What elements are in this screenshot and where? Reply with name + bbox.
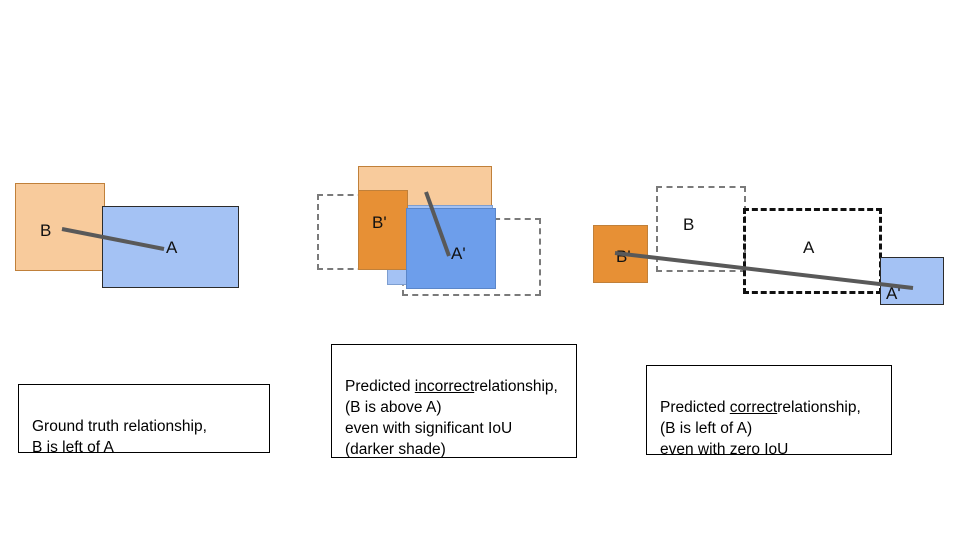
caption-predicted-correct-lead: Predicted <box>660 399 730 416</box>
caption-predicted-correct: Predicted correctrelationship, (B is lef… <box>646 365 892 455</box>
caption-ground-truth: Ground truth relationship, B is left of … <box>18 384 270 453</box>
caption-predicted-incorrect-emphasis: incorrect <box>415 378 474 395</box>
caption-predicted-correct-emphasis: correct <box>730 399 777 416</box>
figure-canvas: B A B' A' B A B' A' <box>0 0 960 540</box>
panel3-label-A: A <box>803 239 814 256</box>
panel3-gt-dashed-box-B <box>656 186 746 272</box>
caption-ground-truth-text: Ground truth relationship, B is left of … <box>32 418 207 456</box>
panel1-box-B <box>15 183 105 271</box>
panel3-label-A-prime: A' <box>886 285 901 302</box>
panel1-label-B: B <box>40 222 51 239</box>
panel2-label-B-prime: B' <box>372 214 387 231</box>
panel1-label-A: A <box>166 239 177 256</box>
panel3-label-B: B <box>683 216 694 233</box>
caption-predicted-incorrect-lead: Predicted <box>345 378 415 395</box>
panel3-label-B-prime: B' <box>616 248 631 265</box>
caption-predicted-incorrect: Predicted incorrectrelationship, (B is a… <box>331 344 577 458</box>
panel2-label-A-prime: A' <box>451 245 466 262</box>
